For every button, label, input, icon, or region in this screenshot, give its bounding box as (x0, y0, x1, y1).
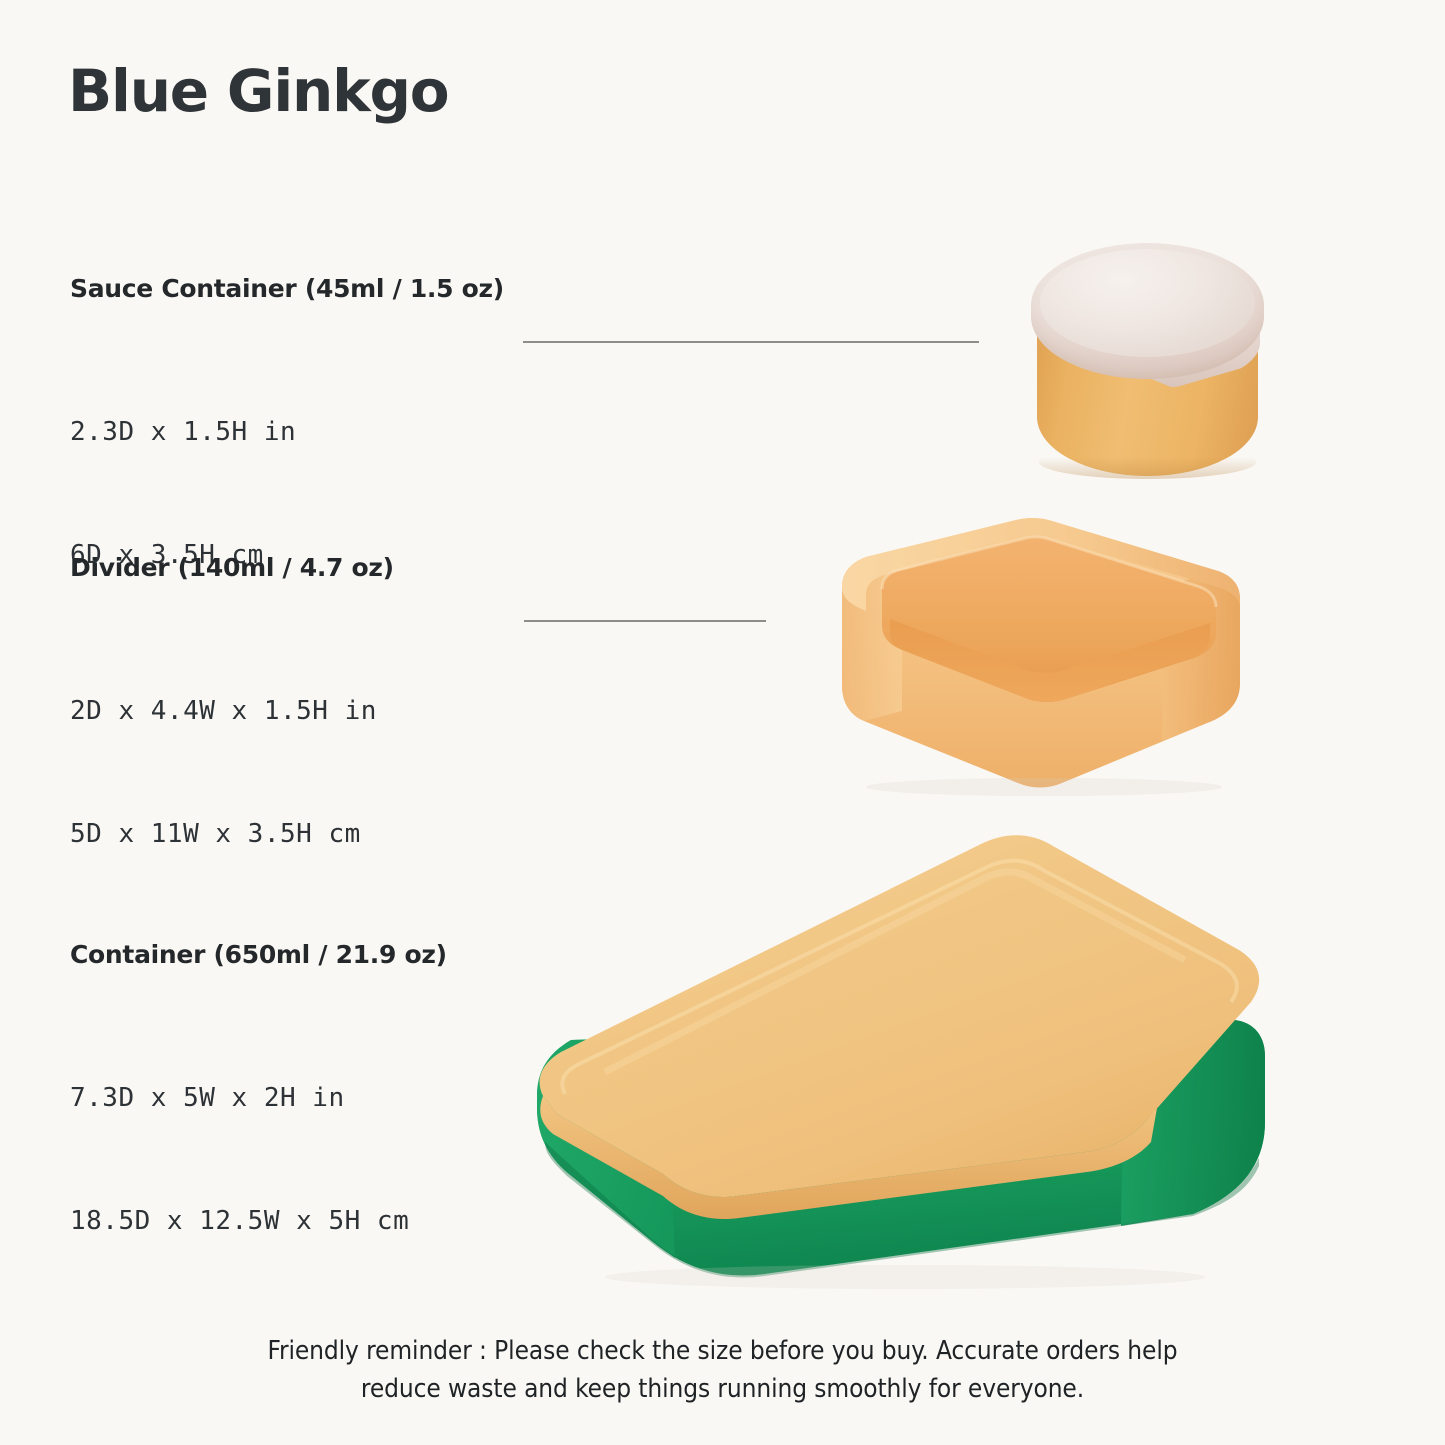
footer-line-2: reduce waste and keep things running smo… (0, 1370, 1445, 1408)
spec-title-sauce-container: Sauce Container (45ml / 1.5 oz) (70, 274, 504, 304)
sauce-container-product-image (1031, 243, 1264, 483)
dimension-metric: 5D x 11W x 3.5H cm (70, 814, 394, 855)
divider-drop-shadow (866, 778, 1222, 796)
product-size-guide-page: Blue Ginkgo Sauce Container (45ml / 1.5 … (0, 0, 1445, 1445)
sauce-container-lid-top-surface (1040, 249, 1255, 357)
footer-line-1: Friendly reminder : Please check the siz… (0, 1332, 1445, 1370)
spec-block-container: Container (650ml / 21.9 oz) 7.3D x 5W x … (70, 940, 447, 1324)
leader-line-divider (524, 620, 766, 622)
spec-block-divider: Divider (140ml / 4.7 oz) 2D x 4.4W x 1.5… (70, 553, 394, 937)
container-drop-shadow (605, 1265, 1205, 1289)
spec-dimensions-container: 7.3D x 5W x 2H in 18.5D x 12.5W x 5H cm (70, 996, 447, 1324)
footer-reminder: Friendly reminder : Please check the siz… (0, 1332, 1445, 1408)
dimension-imperial: 7.3D x 5W x 2H in (70, 1078, 447, 1119)
brand-logo: Blue Ginkgo (68, 62, 448, 120)
dimension-imperial: 2D x 4.4W x 1.5H in (70, 691, 394, 732)
spec-dimensions-divider: 2D x 4.4W x 1.5H in 5D x 11W x 3.5H cm (70, 609, 394, 937)
spec-title-container: Container (650ml / 21.9 oz) (70, 940, 447, 970)
main-container-product-image (525, 822, 1285, 1292)
spec-title-divider: Divider (140ml / 4.7 oz) (70, 553, 394, 583)
dimension-imperial: 2.3D x 1.5H in (70, 412, 504, 453)
dimension-metric: 18.5D x 12.5W x 5H cm (70, 1201, 447, 1242)
divider-product-image (826, 515, 1256, 797)
leader-line-sauce-container (523, 341, 979, 343)
